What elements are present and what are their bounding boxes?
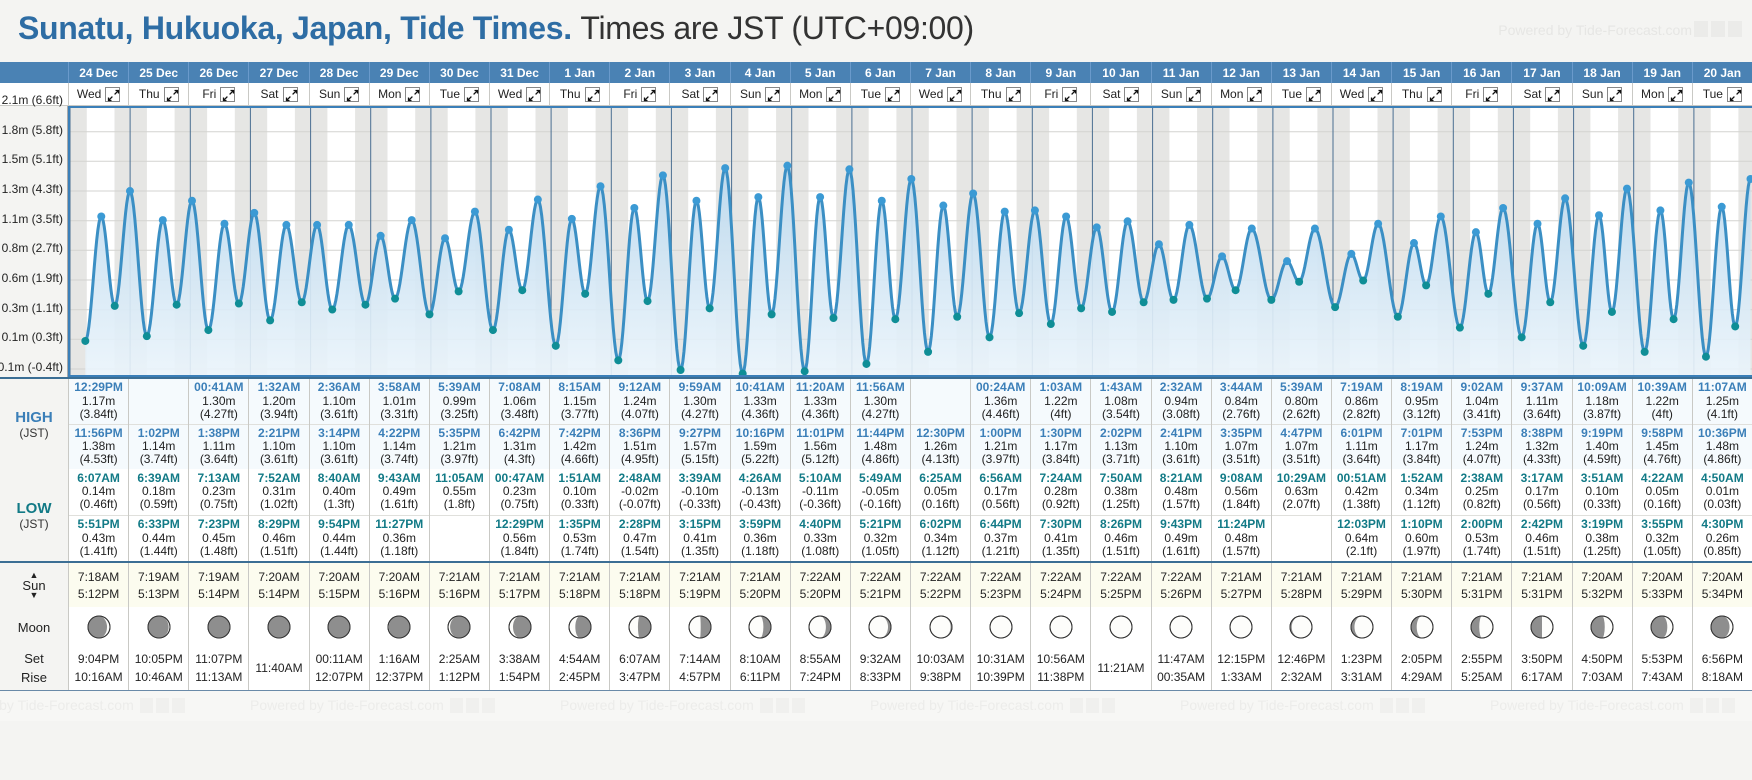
- expand-day-button[interactable]: [1062, 87, 1077, 102]
- date-header-cell[interactable]: 12 Jan: [1211, 62, 1271, 83]
- date-header-cell[interactable]: 16 Jan: [1451, 62, 1511, 83]
- moon-rise-time: 3:47PM: [619, 669, 660, 686]
- low-tide-feet: (1.57ft): [1222, 545, 1260, 558]
- expand-day-button[interactable]: [1186, 87, 1201, 102]
- buoy-icon: [1728, 21, 1742, 37]
- moon-setrise-cell: 6:07AM3:47PM: [609, 647, 669, 690]
- low-tide-entry: 2:38AM0.25m(0.82ft): [1452, 469, 1511, 515]
- low-tide-time: 7:50AM: [1100, 472, 1143, 485]
- low-tide-metres: 0.34m: [924, 532, 957, 545]
- moon-setrise-cell: 1:23PM3:31AM: [1331, 647, 1391, 690]
- sunset-time: 5:26PM: [1160, 587, 1201, 601]
- high-tide-metres: 1.14m: [142, 440, 175, 453]
- high-tide-cell: 00:24AM1.36m(4.46ft)1:00PM1.21m(3.97ft): [970, 379, 1030, 469]
- low-tide-metres: 0.25m: [1465, 485, 1498, 498]
- high-tide-time: 3:44AM: [1220, 381, 1263, 394]
- weekday-label: Sat: [681, 87, 699, 101]
- low-tide-entry: 5:49AM-0.05m(-0.16ft): [851, 469, 910, 515]
- high-tide-feet: (3.97ft): [982, 453, 1020, 466]
- moon-set-time: 6:56PM: [1702, 651, 1743, 668]
- date-header-cell[interactable]: 10 Jan: [1090, 62, 1150, 83]
- date-header-cell[interactable]: 27 Dec: [248, 62, 308, 83]
- footer-watermark-label: Powered by Tide-Forecast.com: [1180, 697, 1374, 713]
- high-tide-cell: 11:20AM1.33m(4.36ft)11:01PM1.56m(5.12ft): [790, 379, 850, 469]
- low-tide-entry: 8:29PM0.46m(1.51ft): [249, 515, 308, 562]
- date-header-cell[interactable]: 5 Jan: [790, 62, 850, 83]
- low-tide-feet: (1.97ft): [1403, 545, 1441, 558]
- weekday-cell: Sun: [1572, 83, 1632, 106]
- low-tide-time: 9:54PM: [318, 518, 360, 531]
- low-tide-metres: 0.32m: [864, 532, 897, 545]
- high-tide-time: 1:02PM: [138, 427, 180, 440]
- weekday-label: Sun: [319, 87, 340, 101]
- low-tide-metres: 0.63m: [1285, 485, 1318, 498]
- high-tide-entry: 8:19AM0.95m(3.12ft): [1392, 379, 1451, 424]
- low-tide-feet: (0.85ft): [1703, 545, 1741, 558]
- moon-setrise-cell: 4:50PM7:03AM: [1572, 647, 1632, 690]
- expand-day-button[interactable]: [1668, 87, 1683, 102]
- low-tide-entry: 8:21AM0.48m(1.57ft): [1152, 469, 1211, 515]
- sun-cell: 7:22AM5:22PM: [910, 563, 970, 607]
- low-tide-metres: 0.14m: [82, 485, 115, 498]
- low-tide-feet: (0.82ft): [1463, 498, 1501, 511]
- date-header-cell[interactable]: 17 Jan: [1511, 62, 1571, 83]
- low-tide-time: 6:25AM: [919, 472, 962, 485]
- low-tide-metres: 0.37m: [984, 532, 1017, 545]
- expand-day-button[interactable]: [947, 87, 962, 102]
- high-tide-feet: (4.76ft): [1643, 453, 1681, 466]
- date-header-cell[interactable]: 19 Jan: [1632, 62, 1692, 83]
- weekday-cell: Sat: [669, 83, 729, 106]
- sunrise-time: 7:20AM: [1642, 570, 1683, 584]
- high-tide-metres: 0.84m: [1225, 395, 1258, 408]
- moon-phase-icon: [1530, 615, 1554, 639]
- expand-day-button[interactable]: [1247, 87, 1262, 102]
- moon-set-time: 2:55PM: [1461, 651, 1502, 668]
- sunrise-time: 7:22AM: [1040, 570, 1081, 584]
- date-header-cell[interactable]: 3 Jan: [669, 62, 729, 83]
- moon-set-time: 4:50PM: [1581, 651, 1622, 668]
- high-tide-cell: 10:41AM1.33m(4.36ft)10:16PM1.59m(5.22ft): [730, 379, 790, 469]
- low-tide-feet: (1.84ft): [501, 545, 539, 558]
- date-header-cell[interactable]: 2 Jan: [609, 62, 669, 83]
- low-tide-time: 4:40PM: [799, 518, 841, 531]
- sunrise-time: 7:21AM: [1221, 570, 1262, 584]
- high-tide-time: 8:19AM: [1400, 381, 1443, 394]
- moon-cell: [489, 607, 549, 647]
- high-tide-entry: 1:43AM1.08m(3.54ft): [1091, 379, 1150, 424]
- expand-day-button[interactable]: [1483, 87, 1498, 102]
- tide-curve-chart: 2.1m (6.6ft)1.8m (5.8ft)1.5m (5.1ft)1.3m…: [0, 106, 1752, 377]
- weekday-cell: Tue: [429, 83, 489, 106]
- date-header-cell[interactable]: 24 Dec: [68, 62, 128, 83]
- moon-setrise-cell: 8:10AM6:11PM: [730, 647, 790, 690]
- low-tide-entry: 3:15PM0.41m(1.35ft): [670, 515, 729, 562]
- high-tide-metres: 1.42m: [563, 440, 596, 453]
- expand-day-button[interactable]: [885, 87, 900, 102]
- moon-set-time: 10:05PM: [135, 651, 183, 668]
- low-tide-feet: (1.48ft): [200, 545, 238, 558]
- high-tide-entry: 8:38PM1.32m(4.33ft): [1512, 424, 1571, 470]
- low-tide-metres: -0.02m: [621, 485, 658, 498]
- date-header-cell[interactable]: 28 Dec: [309, 62, 369, 83]
- high-tide-feet: (3.51ft): [1282, 453, 1320, 466]
- low-tide-metres: 0.34m: [1405, 485, 1438, 498]
- expand-day-button[interactable]: [220, 87, 235, 102]
- low-tide-metres: 0.56m: [503, 532, 536, 545]
- high-tide-feet: (3.84ft): [80, 408, 118, 421]
- low-tide-metres: 0.64m: [1345, 532, 1378, 545]
- weekday-label: Wed: [919, 87, 943, 101]
- low-tide-entry: 00:51AM0.42m(1.38ft): [1332, 469, 1391, 515]
- high-tide-time: 12:29PM: [74, 381, 123, 394]
- high-tide-time: 3:14PM: [318, 427, 360, 440]
- high-tide-cell: 5:39AM0.80m(2.62ft)4:47PM1.07m(3.51ft): [1271, 379, 1331, 469]
- moon-set-time: 10:03AM: [917, 651, 965, 668]
- high-tide-metres: 1.06m: [503, 395, 536, 408]
- low-tide-time: 7:30PM: [1040, 518, 1082, 531]
- sun-cell: 7:20AM5:33PM: [1632, 563, 1692, 607]
- high-tide-time: 4:22PM: [378, 427, 420, 440]
- sunrise-time: 7:19AM: [138, 570, 179, 584]
- date-header-cell[interactable]: 1 Jan: [549, 62, 609, 83]
- high-tide-feet: (3.12ft): [1403, 408, 1441, 421]
- low-tide-feet: (1.12ft): [1403, 498, 1441, 511]
- low-tide-feet: (1.51ft): [260, 545, 298, 558]
- low-tide-metres: 0.40m: [322, 485, 355, 498]
- low-tide-time: 4:22AM: [1641, 472, 1684, 485]
- high-tide-time: 2:21PM: [258, 427, 300, 440]
- footer-watermark-icons: [1690, 698, 1735, 713]
- moon-cell: [309, 607, 369, 647]
- expand-day-button[interactable]: [283, 87, 298, 102]
- moon-cell: [1692, 607, 1752, 647]
- high-tide-entry: 10:41AM1.33m(4.36ft): [731, 379, 790, 424]
- y-axis-label: -0.1m (-0.4ft): [0, 360, 63, 374]
- moon-cell: [1632, 607, 1692, 647]
- high-tide-time: 00:41AM: [194, 381, 243, 394]
- low-tide-entry: 7:24AM0.28m(0.92ft): [1031, 469, 1090, 515]
- moon-rise-time: 10:39PM: [977, 669, 1025, 686]
- low-tide-metres: 0.46m: [262, 532, 295, 545]
- low-tide-entry: 6:39AM0.18m(0.59ft): [129, 469, 188, 515]
- expand-day-button[interactable]: [464, 87, 479, 102]
- low-tide-metres: 0.05m: [1646, 485, 1679, 498]
- sun-cell: 7:21AM5:17PM: [489, 563, 549, 607]
- high-tide-metres: 1.30m: [864, 395, 897, 408]
- low-tide-entry: 11:24PM0.48m(1.57ft): [1212, 515, 1271, 562]
- low-tide-feet: (1.25ft): [1102, 498, 1140, 511]
- high-tide-entry: 9:37AM1.11m(3.64ft): [1512, 379, 1571, 424]
- expand-day-button[interactable]: [1124, 87, 1139, 102]
- moon-set-time: 8:55AM: [800, 651, 841, 668]
- weekday-header-row: WedThuFriSatSunMonTueWedThuFriSatSunMonT…: [0, 83, 1752, 106]
- moon-cell: [1511, 607, 1571, 647]
- high-tide-metres: 1.21m: [443, 440, 476, 453]
- high-tide-feet: (4.27ft): [861, 408, 899, 421]
- high-tide-metres: 1.01m: [383, 395, 416, 408]
- low-tide-feet: (2.1ft): [1346, 545, 1377, 558]
- expand-day-button[interactable]: [826, 87, 841, 102]
- sun-cell: 7:22AM5:26PM: [1151, 563, 1211, 607]
- high-tide-cell: 1:02PM1.14m(3.74ft): [128, 379, 188, 469]
- high-tide-cell: 2:36AM1.10m(3.61ft)3:14PM1.10m(3.61ft): [309, 379, 369, 469]
- sunset-time: 5:20PM: [800, 587, 841, 601]
- high-tide-time: 00:24AM: [976, 381, 1025, 394]
- date-header-cell[interactable]: 4 Jan: [730, 62, 790, 83]
- sunrise-time: 7:21AM: [619, 570, 660, 584]
- low-tide-entry: 9:43PM0.49m(1.61ft): [1152, 515, 1211, 562]
- low-tide-entry: 11:05AM0.55m(1.8ft): [430, 469, 489, 515]
- expand-day-button[interactable]: [1368, 87, 1383, 102]
- expand-day-button[interactable]: [1545, 87, 1560, 102]
- moon-phase-icon: [1049, 615, 1073, 639]
- moon-rise-time: 00:35AM: [1157, 669, 1205, 686]
- low-tide-metres: -0.11m: [802, 485, 838, 498]
- date-header-cell[interactable]: 8 Jan: [970, 62, 1030, 83]
- y-axis-label: 1.3m (4.3ft): [2, 182, 63, 196]
- expand-day-button[interactable]: [703, 87, 718, 102]
- high-tide-entry: 11:07AM1.25m(4.1ft): [1693, 379, 1752, 424]
- high-tide-entry: [911, 379, 970, 424]
- high-tide-metres: 0.80m: [1285, 395, 1318, 408]
- high-tide-feet: (4.3ft): [504, 453, 535, 466]
- moon-cell: [1391, 607, 1451, 647]
- high-tide-entry: 7:53PM1.24m(4.07ft): [1452, 424, 1511, 470]
- moon-rise-time: 6:11PM: [740, 669, 780, 686]
- moon-rise-label: Rise: [21, 669, 47, 688]
- low-tide-metres: 0.55m: [443, 485, 476, 498]
- weekday-label: Mon: [1641, 87, 1664, 101]
- low-tide-metres: 0.44m: [142, 532, 175, 545]
- low-tide-label-tz: (JST): [19, 517, 48, 531]
- high-tide-metres: 1.24m: [623, 395, 656, 408]
- low-tide-time: 4:50AM: [1701, 472, 1744, 485]
- sunset-time: 5:33PM: [1642, 587, 1683, 601]
- low-tide-metres: 0.49m: [383, 485, 416, 498]
- high-tide-feet: (3.77ft): [561, 408, 599, 421]
- high-tide-entry: 1:00PM1.21m(3.97ft): [971, 424, 1030, 470]
- low-tide-entry: 3:39AM-0.10m(-0.33ft): [670, 469, 729, 515]
- high-tide-metres: 1.25m: [1706, 395, 1739, 408]
- date-header-cell[interactable]: 26 Dec: [188, 62, 248, 83]
- weekday-cell: Tue: [1692, 83, 1752, 106]
- low-tide-time: 1:51AM: [558, 472, 601, 485]
- expand-day-button[interactable]: [1607, 87, 1622, 102]
- date-header-cell[interactable]: 15 Jan: [1391, 62, 1451, 83]
- weekday-cell: Sat: [1090, 83, 1150, 106]
- moon-setrise-cell: 2:25AM1:12PM: [429, 647, 489, 690]
- low-tide-time: 5:49AM: [859, 472, 902, 485]
- expand-day-button[interactable]: [405, 87, 420, 102]
- sun-cell: 7:20AM5:14PM: [248, 563, 308, 607]
- moon-phase-icon: [1289, 615, 1313, 639]
- high-tide-entry: 1:38PM1.11m(3.64ft): [189, 424, 248, 470]
- sunset-time: 5:29PM: [1341, 587, 1382, 601]
- moon-cell: [128, 607, 188, 647]
- chart-y-axis: 2.1m (6.6ft)1.8m (5.8ft)1.5m (5.1ft)1.3m…: [0, 106, 68, 377]
- expand-day-button[interactable]: [344, 87, 359, 102]
- moon-setrise-cell: 9:32AM8:33PM: [850, 647, 910, 690]
- high-tide-cell: 7:19AM0.86m(2.82ft)6:01PM1.11m(3.64ft): [1331, 379, 1391, 469]
- high-tide-feet: (5.15ft): [681, 453, 719, 466]
- low-tide-entry: 9:54PM0.44m(1.44ft): [310, 515, 369, 562]
- footer-watermark-text: Powered by Tide-Forecast.com: [870, 697, 1115, 713]
- weekday-label: Sat: [260, 87, 278, 101]
- expand-day-button[interactable]: [1306, 87, 1321, 102]
- date-header-cell[interactable]: 14 Jan: [1331, 62, 1391, 83]
- high-tide-entry: 3:35PM1.07m(3.51ft): [1212, 424, 1271, 470]
- sunset-time: 5:28PM: [1281, 587, 1322, 601]
- low-tide-entry: 2:48AM-0.02m(-0.07ft): [610, 469, 669, 515]
- moon-phase-icon: [327, 615, 351, 639]
- sunrise-time: 7:22AM: [980, 570, 1021, 584]
- low-tide-metres: 0.48m: [1164, 485, 1197, 498]
- high-tide-metres: 1.48m: [1706, 440, 1739, 453]
- low-tide-time: 7:24AM: [1039, 472, 1082, 485]
- moon-cell: [1211, 607, 1271, 647]
- expand-day-button[interactable]: [1427, 87, 1442, 102]
- low-tide-metres: 0.26m: [1706, 532, 1739, 545]
- low-tide-entry: 4:22AM0.05m(0.16ft): [1633, 469, 1692, 515]
- low-tide-feet: (1.84ft): [1222, 498, 1260, 511]
- high-tide-time: 2:32AM: [1160, 381, 1203, 394]
- high-tide-feet: (3.74ft): [380, 453, 418, 466]
- moon-cell: [549, 607, 609, 647]
- moon-cell: [910, 607, 970, 647]
- expand-day-button[interactable]: [641, 87, 656, 102]
- high-tide-entry: 10:36PM1.48m(4.86ft): [1693, 424, 1752, 470]
- high-tide-metres: 1.17m: [1044, 440, 1077, 453]
- moon-set-time: 3:38AM: [499, 651, 540, 668]
- high-tide-feet: (3.71ft): [1102, 453, 1140, 466]
- expand-day-button[interactable]: [164, 87, 179, 102]
- high-tide-entry: 7:42PM1.42m(4.66ft): [550, 424, 609, 470]
- expand-day-button[interactable]: [1006, 87, 1021, 102]
- expand-day-button[interactable]: [526, 87, 541, 102]
- chart-plot-area[interactable]: [68, 106, 1752, 377]
- high-tide-metres: 1.10m: [322, 440, 355, 453]
- high-tide-metres: 0.94m: [1164, 395, 1197, 408]
- date-header-cell[interactable]: 30 Dec: [429, 62, 489, 83]
- high-tide-metres: 0.86m: [1345, 395, 1378, 408]
- high-tide-entry: 2:41PM1.10m(3.61ft): [1152, 424, 1211, 470]
- sunset-arrow-icon: ▼: [30, 592, 39, 599]
- moon-cell: [970, 607, 1030, 647]
- moon-setrise-row: Set Rise 9:04PM10:16AM10:05PM10:46AM11:0…: [0, 647, 1752, 691]
- low-tide-time: 8:21AM: [1160, 472, 1203, 485]
- date-header-cell[interactable]: 25 Dec: [128, 62, 188, 83]
- high-tide-feet: (4.1ft): [1707, 408, 1738, 421]
- low-tide-feet: (1.8ft): [444, 498, 475, 511]
- low-tide-feet: (0.33ft): [1583, 498, 1621, 511]
- moon-phase-icon: [568, 615, 592, 639]
- expand-day-button[interactable]: [765, 87, 780, 102]
- date-header-cell[interactable]: 13 Jan: [1271, 62, 1331, 83]
- high-tide-time: 8:15AM: [558, 381, 601, 394]
- expand-day-button[interactable]: [105, 87, 120, 102]
- date-header-cell[interactable]: 11 Jan: [1151, 62, 1211, 83]
- expand-day-button[interactable]: [1727, 87, 1742, 102]
- sunset-time: 5:27PM: [1221, 587, 1262, 601]
- low-tide-entry: 5:21PM0.32m(1.05ft): [851, 515, 910, 562]
- high-tide-feet: (3.41ft): [1463, 408, 1501, 421]
- low-tide-time: 5:21PM: [859, 518, 901, 531]
- low-tide-metres: 0.18m: [142, 485, 175, 498]
- high-tide-feet: (3.61ft): [320, 453, 358, 466]
- low-tide-metres: 0.48m: [1225, 532, 1258, 545]
- low-tide-metres: 0.01m: [1706, 485, 1739, 498]
- weekday-label: Tue: [440, 87, 460, 101]
- high-tide-entry: 8:36PM1.51m(4.95ft): [610, 424, 669, 470]
- sunrise-time: 7:21AM: [439, 570, 480, 584]
- moon-set-time: 2:05PM: [1401, 651, 1442, 668]
- high-tide-entry: 1:03AM1.22m(4ft): [1031, 379, 1090, 424]
- high-tide-entry: 3:44AM0.84m(2.76ft): [1212, 379, 1271, 424]
- low-tide-time: 5:10AM: [799, 472, 842, 485]
- moon-cell: [1030, 607, 1090, 647]
- weekday-cell: Wed: [489, 83, 549, 106]
- low-tide-metres: 0.53m: [1465, 532, 1498, 545]
- weekday-label: Thu: [1402, 87, 1423, 101]
- sun-cell: 7:21AM5:31PM: [1451, 563, 1511, 607]
- low-tide-metres: 0.10m: [1585, 485, 1618, 498]
- moon-phase-icon: [1590, 615, 1614, 639]
- low-tide-feet: (1.08ft): [801, 545, 839, 558]
- low-tide-cell: 1:52AM0.34m(1.12ft)1:10PM0.60m(1.97ft): [1391, 469, 1451, 561]
- date-header-cell[interactable]: 20 Jan: [1692, 62, 1752, 83]
- high-tide-feet: (4.59ft): [1583, 453, 1621, 466]
- low-tide-metres: 0.17m: [1525, 485, 1558, 498]
- high-tide-cell: 7:08AM1.06m(3.48ft)6:42PM1.31m(4.3ft): [489, 379, 549, 469]
- low-tide-entry: 6:02PM0.34m(1.12ft): [911, 515, 970, 562]
- high-tide-time: 7:19AM: [1340, 381, 1383, 394]
- moon-rise-time: 6:17AM: [1521, 669, 1562, 686]
- high-tide-feet: (3.25ft): [440, 408, 478, 421]
- sunrise-time: 7:19AM: [198, 570, 239, 584]
- low-tide-time: 9:43AM: [378, 472, 421, 485]
- high-tide-feet: (4ft): [1050, 408, 1071, 421]
- sunset-time: 5:24PM: [1040, 587, 1081, 601]
- date-header-cell[interactable]: 6 Jan: [850, 62, 910, 83]
- low-tide-feet: (1.44ft): [320, 545, 358, 558]
- high-tide-metres: 1.32m: [1525, 440, 1558, 453]
- moon-set-time: 6:07AM: [619, 651, 660, 668]
- high-tide-feet: (3.51ft): [1222, 453, 1260, 466]
- low-tide-entry: 2:42PM0.46m(1.51ft): [1512, 515, 1571, 562]
- date-header-cell[interactable]: 31 Dec: [489, 62, 549, 83]
- expand-day-button[interactable]: [585, 87, 600, 102]
- moon-setrise-cell: 6:56PM8:18AM: [1692, 647, 1752, 690]
- high-tide-label-text: HIGH: [15, 409, 53, 426]
- high-tide-metres: 1.57m: [683, 440, 716, 453]
- date-header-cell[interactable]: 18 Jan: [1572, 62, 1632, 83]
- date-header-cell[interactable]: 29 Dec: [369, 62, 429, 83]
- high-tide-cell: 9:02AM1.04m(3.41ft)7:53PM1.24m(4.07ft): [1451, 379, 1511, 469]
- high-tide-entry: 4:47PM1.07m(3.51ft): [1272, 424, 1331, 470]
- low-tide-entry: 6:25AM0.05m(0.16ft): [911, 469, 970, 515]
- low-tide-feet: (0.03ft): [1703, 498, 1741, 511]
- high-tide-time: 12:30PM: [916, 427, 965, 440]
- date-header-cell[interactable]: 9 Jan: [1030, 62, 1090, 83]
- sunset-time: 5:18PM: [559, 587, 600, 601]
- high-tide-feet: (3.97ft): [440, 453, 478, 466]
- moon-setrise-cell: 11:07PM11:13AM: [188, 647, 248, 690]
- date-header-cell[interactable]: 7 Jan: [910, 62, 970, 83]
- low-tide-cell: 3:17AM0.17m(0.56ft)2:42PM0.46m(1.51ft): [1511, 469, 1571, 561]
- low-tide-time: 6:33PM: [138, 518, 180, 531]
- high-tide-time: 7:08AM: [498, 381, 541, 394]
